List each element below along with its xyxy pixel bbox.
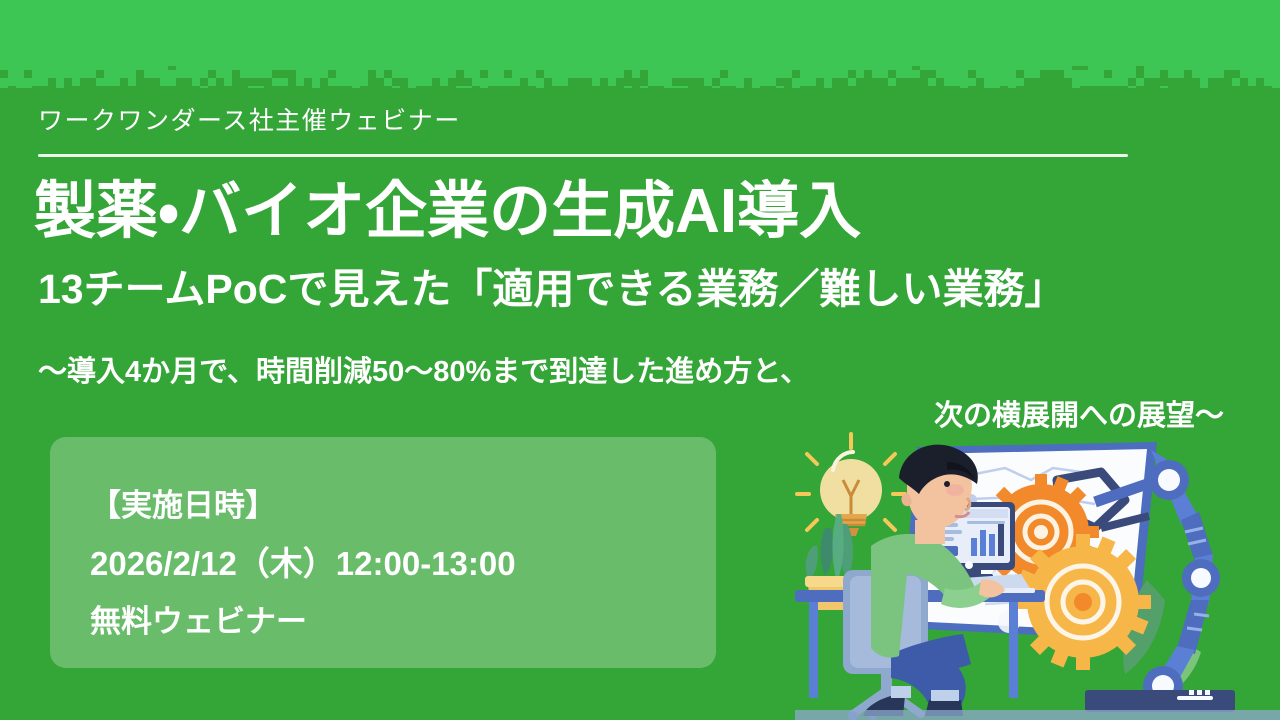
tagline-line-1: 〜導入4か月で、時間削減50〜80%まで到達した進め方と、 bbox=[38, 350, 1238, 394]
event-datetime-label: 【実施日時】 bbox=[90, 478, 690, 534]
event-datetime-value: 2026/2/12（木）12:00-13:00 bbox=[90, 534, 690, 594]
eyebrow-text: ワークワンダース社主催ウェビナー bbox=[38, 101, 461, 137]
page-title: 製薬・バイオ企業の生成AI導入 bbox=[34, 176, 1254, 248]
event-info-card-body: 【実施日時】 2026/2/12（木）12:00-13:00 無料ウェビナー bbox=[90, 478, 690, 650]
page-subtitle: 13チームPoCで見えた「適用できる業務／難しい業務」 bbox=[38, 265, 1258, 313]
divider-rule bbox=[38, 154, 1128, 157]
tagline: 〜導入4か月で、時間削減50〜80%まで到達した進め方と、 次の横展開への展望〜 bbox=[38, 350, 1238, 438]
machine-base bbox=[1085, 690, 1235, 712]
event-info-card: 【実施日時】 2026/2/12（木）12:00-13:00 無料ウェビナー bbox=[50, 437, 716, 668]
top-color-band bbox=[0, 0, 1280, 66]
webinar-banner: ワークワンダース社主催ウェビナー 製薬・バイオ企業の生成AI導入 13チームPo… bbox=[0, 0, 1280, 720]
floor-line bbox=[795, 710, 1280, 720]
illustration-svg bbox=[795, 428, 1280, 720]
event-price-label: 無料ウェビナー bbox=[90, 594, 690, 650]
dither-edge-decoration bbox=[0, 62, 1280, 88]
hero-illustration bbox=[795, 428, 1280, 720]
lightbulb-icon bbox=[797, 434, 905, 536]
